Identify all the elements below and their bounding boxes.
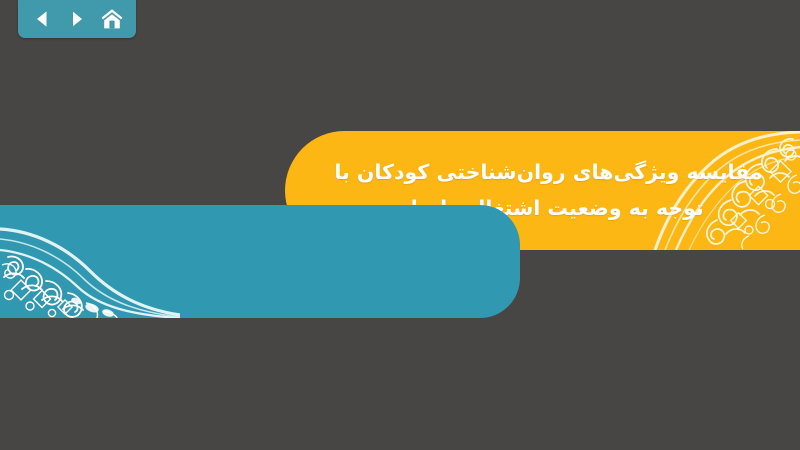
title-line-1: مقایسه ویژگی‌های روان‌شناختی کودکان با [334, 155, 762, 190]
next-triangle-icon [67, 9, 87, 29]
previous-slide-button[interactable] [27, 4, 57, 34]
home-button[interactable] [97, 4, 127, 34]
previous-triangle-icon [32, 9, 52, 29]
slide-navigation-bar [18, 0, 136, 38]
home-icon [100, 8, 124, 30]
next-slide-button[interactable] [62, 4, 92, 34]
accent-banner [0, 205, 520, 318]
presentation-slide: مقایسه ویژگی‌های روان‌شناختی کودکان با ت… [0, 0, 800, 450]
arabesque-ornament-teal [0, 205, 180, 318]
